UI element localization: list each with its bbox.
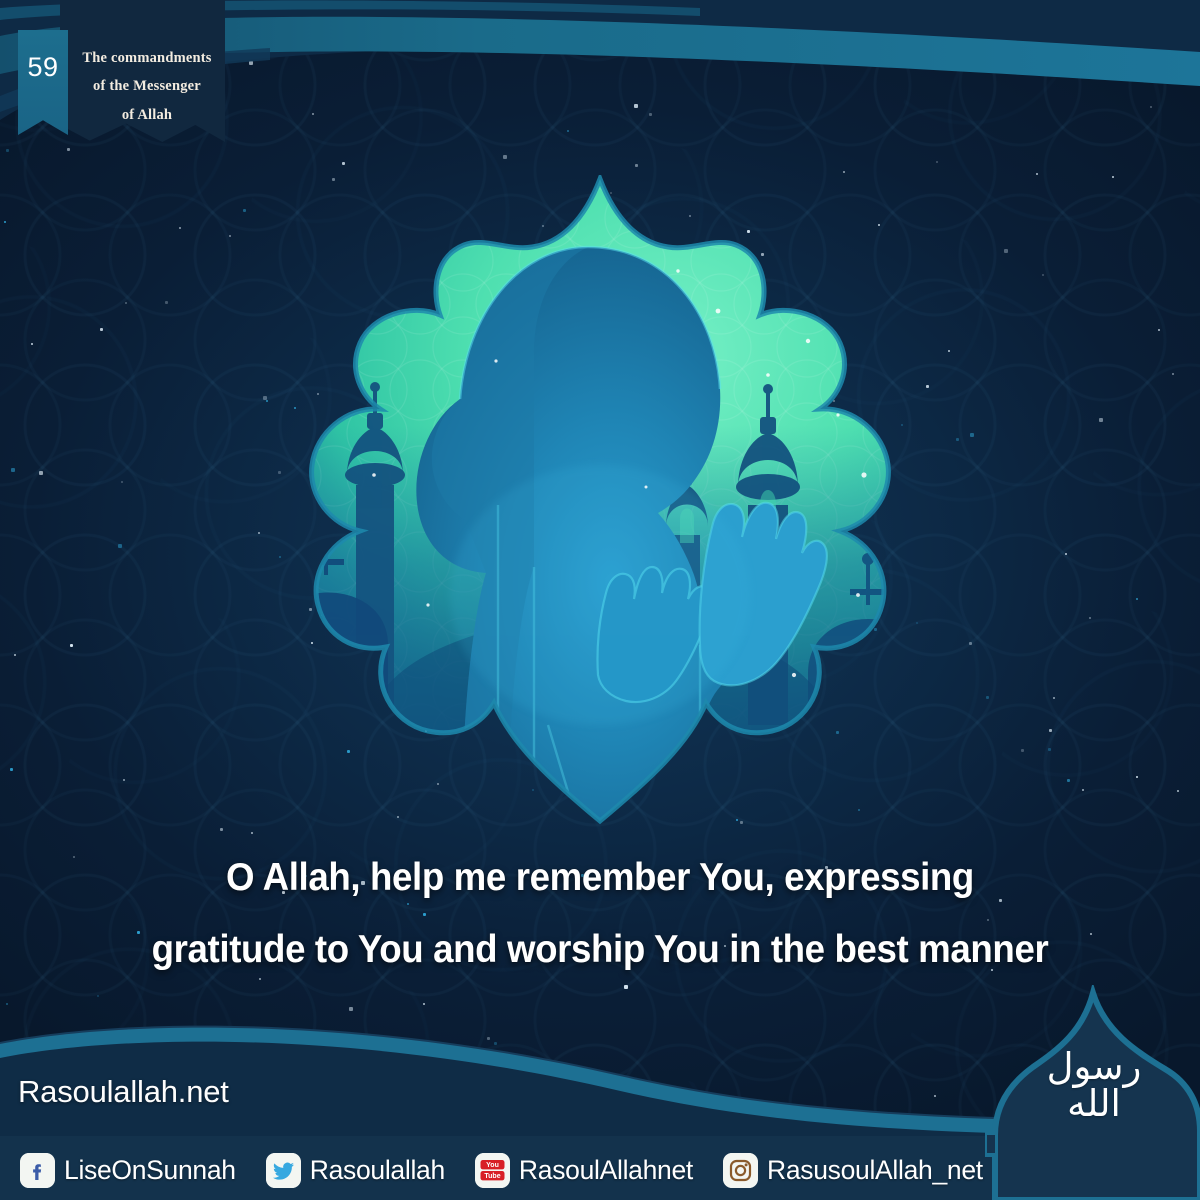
facebook-icon[interactable] bbox=[20, 1153, 55, 1188]
social-link-instagram[interactable]: RasusoulAllah_net bbox=[723, 1153, 983, 1188]
site-url[interactable]: Rasoulallah.net bbox=[18, 1074, 229, 1110]
rasoul-allah-calligraphy: رسول الله bbox=[1014, 1048, 1174, 1122]
instagram-handle: RasusoulAllah_net bbox=[767, 1155, 983, 1186]
social-link-twitter[interactable]: Rasoulallah bbox=[266, 1153, 445, 1188]
quote-line-2: gratitude to You and worship You in the … bbox=[36, 914, 1164, 986]
youtube-handle: RasoulAllahnet bbox=[519, 1155, 693, 1186]
social-link-facebook[interactable]: LiseOnSunnah bbox=[20, 1153, 236, 1188]
number-badge-value: 59 bbox=[27, 52, 58, 83]
quote-line-1: O Allah, help me remember You, expressin… bbox=[36, 842, 1164, 914]
facebook-handle: LiseOnSunnah bbox=[64, 1155, 236, 1186]
youtube-icon[interactable]: You Tube bbox=[475, 1153, 510, 1188]
header-title-line-3: of Allah bbox=[62, 101, 232, 129]
social-link-youtube[interactable]: You Tube RasoulAllahnet bbox=[475, 1153, 693, 1188]
number-badge: 59 bbox=[18, 30, 68, 135]
svg-text:Tube: Tube bbox=[484, 1173, 500, 1180]
header-title-line-1: The commandments bbox=[62, 44, 232, 72]
svg-text:You: You bbox=[486, 1162, 499, 1169]
header-title: The commandments of the Messenger of All… bbox=[62, 44, 232, 129]
poster-canvas: 59 The commandments of the Messenger of … bbox=[0, 0, 1200, 1200]
main-illustration bbox=[248, 175, 952, 825]
twitter-handle: Rasoulallah bbox=[310, 1155, 445, 1186]
header-title-line-2: of the Messenger bbox=[62, 72, 232, 100]
twitter-icon[interactable] bbox=[266, 1153, 301, 1188]
social-links-bar: LiseOnSunnah Rasoulallah You Tube bbox=[0, 1140, 1005, 1200]
instagram-icon[interactable] bbox=[723, 1153, 758, 1188]
praying-silhouette-scene bbox=[248, 175, 952, 825]
quote-text: O Allah, help me remember You, expressin… bbox=[36, 842, 1164, 986]
